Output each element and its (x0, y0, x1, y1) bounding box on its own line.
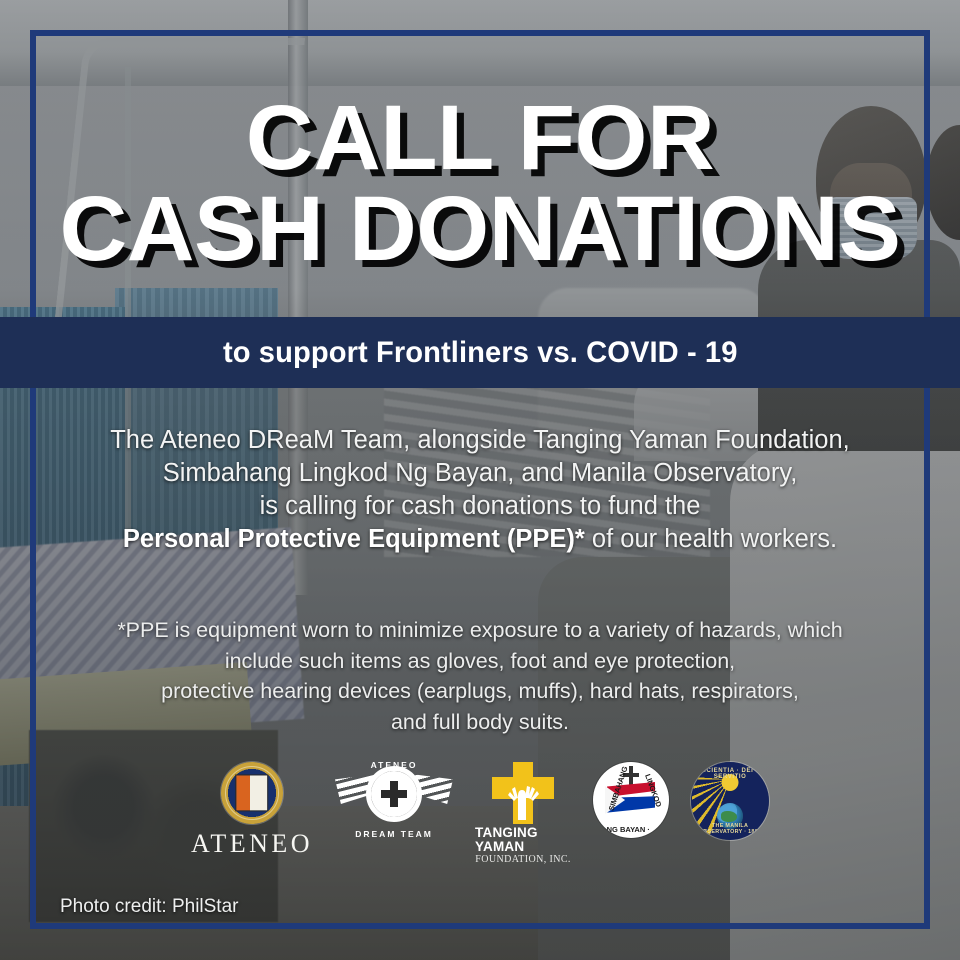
logo-tanging-yaman: TANGING YAMAN FOUNDATION, INC. (475, 762, 571, 865)
tanging-yaman-name: TANGING YAMAN (475, 826, 571, 854)
dream-team-hub-inner (371, 771, 417, 817)
dream-team-top-text: ATENEO (335, 760, 453, 770)
logo-simbahang-lingkod-ng-bayan: SIMBAHANG LINGKOD · NG BAYAN · (593, 762, 669, 838)
tanging-yaman-subname: FOUNDATION, INC. (475, 854, 571, 865)
footnote-line-2: include such items as gloves, foot and e… (56, 646, 904, 677)
tanging-yaman-cross-hands-icon (492, 762, 554, 824)
observatory-arc-top: SCIENTIA · DEI · SERVITIO (691, 768, 769, 780)
subtitle-band: to support Frontliners vs. COVID - 19 (0, 317, 960, 388)
slb-ring-text: SIMBAHANG LINGKOD · NG BAYAN · (593, 762, 669, 838)
slb-ring-bottom: · NG BAYAN · (602, 825, 650, 834)
dream-team-bottom-text: DREAM TEAM (335, 829, 453, 839)
slb-flag-cross-roundel-icon: SIMBAHANG LINGKOD · NG BAYAN · (593, 762, 669, 838)
logo-ateneo-dream-team: ATENEO DREAM TEAM (335, 762, 453, 836)
footnote-line-4: and full body suits. (56, 707, 904, 738)
headline-line-1: CALL FOR (0, 96, 960, 181)
footnote-line-3: protective hearing devices (earplugs, mu… (56, 676, 904, 707)
headline-line-2: CASH DONATIONS (0, 187, 960, 272)
partner-logos: ATENEO ATENEO DREAM TEAM (0, 762, 960, 872)
body-line-4: Personal Protective Equipment (PPE)* of … (58, 523, 902, 556)
slb-ring-right: LINGKOD (644, 773, 664, 809)
manila-observatory-seal-icon: SCIENTIA · DEI · SERVITIO THE MANILA OBS… (691, 762, 769, 840)
body-copy: The Ateneo DReaM Team, alongside Tanging… (58, 424, 902, 557)
page-title: CALL FOR CASH DONATIONS (0, 96, 960, 271)
logo-ateneo: ATENEO (191, 762, 313, 859)
helping-hands-icon (506, 778, 540, 820)
medical-cross-icon (381, 781, 407, 807)
logo-manila-observatory: SCIENTIA · DEI · SERVITIO THE MANILA OBS… (691, 762, 769, 840)
ateneo-seal-icon (221, 762, 283, 824)
slb-ring-left: SIMBAHANG (607, 765, 630, 812)
donation-poster: CALL FOR CASH DONATIONS to support Front… (0, 0, 960, 960)
body-line-1: The Ateneo DReaM Team, alongside Tanging… (58, 424, 902, 457)
observatory-arc-bottom: THE MANILA OBSERVATORY · 1865 (691, 823, 769, 835)
dream-team-winged-cross-icon: ATENEO DREAM TEAM (335, 762, 453, 836)
ppe-footnote: *PPE is equipment worn to minimize expos… (56, 615, 904, 737)
ppe-emphasis: Personal Protective Equipment (PPE)* (123, 525, 585, 553)
body-line-2: Simbahang Lingkod Ng Bayan, and Manila O… (58, 457, 902, 490)
subtitle-text: to support Frontliners vs. COVID - 19 (223, 336, 738, 370)
ateneo-seal-shield (235, 774, 268, 811)
footnote-line-1: *PPE is equipment worn to minimize expos… (56, 615, 904, 646)
ppe-line-rest: of our health workers. (585, 525, 837, 553)
photo-credit: Photo credit: PhilStar (60, 896, 238, 918)
ateneo-wordmark: ATENEO (191, 829, 313, 859)
body-line-3: is calling for cash donations to fund th… (58, 490, 902, 523)
